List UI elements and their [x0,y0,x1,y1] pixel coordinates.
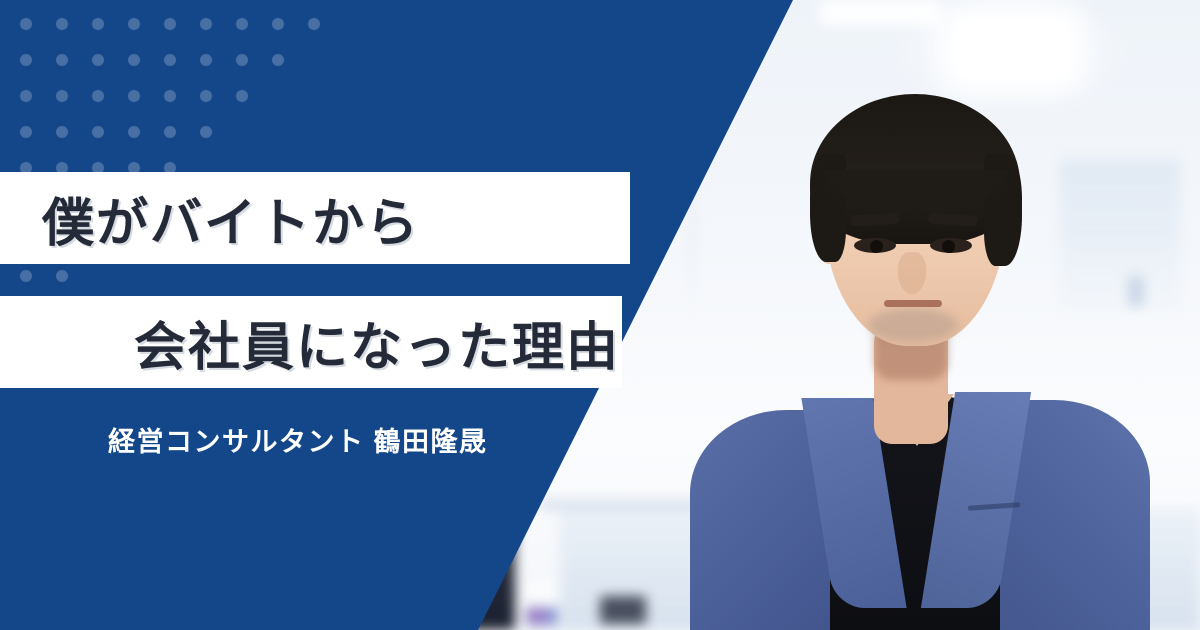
ceiling-light-strip-icon [820,0,940,26]
desk-object [600,596,646,624]
byline-text: 経営コンサルタント 鶴田隆晟 [108,420,488,459]
wall-switch-icon [1128,276,1144,306]
portrait-person [700,92,1120,630]
bottle-label [527,608,557,624]
pupil-right [942,240,955,253]
headline-line-1: 僕がバイトから [0,181,420,256]
headline-band-1: 僕がバイトから [0,172,630,264]
headline-band-2: 会社員になった理由 [0,296,622,388]
headline-line-2: 会社員になった理由 [0,305,620,380]
mouth [884,300,942,307]
chin-shadow [868,308,958,342]
banner-canvas: 僕がバイトから 会社員になった理由 経営コンサルタント 鶴田隆晟 [0,0,1200,630]
ceiling-light-panel-icon [955,18,1070,80]
nose [898,252,926,294]
pupil-left [870,240,883,253]
